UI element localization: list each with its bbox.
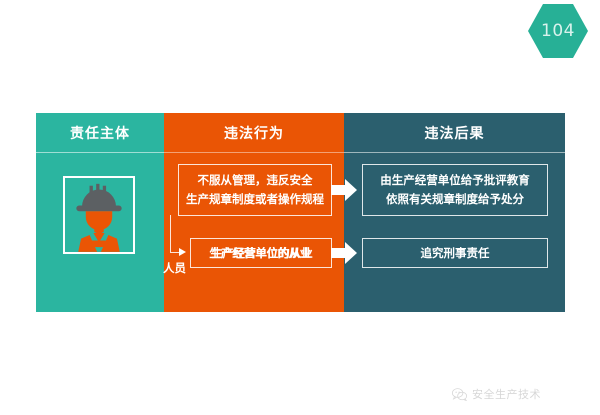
hexagon-shape: 104 xyxy=(528,4,588,58)
act-box-1: 不服从管理，违反安全 生产规章制度或者操作规程 xyxy=(178,164,332,216)
result-box-1-line-2: 依照有关规章制度给予处分 xyxy=(386,190,524,209)
watermark-label: 安全生产技术 xyxy=(472,386,541,402)
column-header-result: 违法后果 xyxy=(344,113,565,152)
act-box-1-line-1: 不服从管理，违反安全 xyxy=(198,171,313,190)
page-number-label: 104 xyxy=(541,21,575,41)
result-box-1-line-1: 由生产经营单位给予批评教育 xyxy=(380,171,530,190)
result-box-2-line-1: 追究刑事责任 xyxy=(421,244,490,263)
column-subject-body xyxy=(36,152,164,312)
column-act-body: 不服从管理，违反安全 生产规章制度或者操作规程 生产经营单位的从业 生产经营单位… xyxy=(164,152,344,312)
act-box-2: 生产经营单位的从业 生产经营单位的从业 人员 xyxy=(190,238,332,268)
page-number-badge: 104 xyxy=(528,4,588,58)
violation-flow-diagram: 责任主体 xyxy=(36,113,565,312)
column-act: 违法行为 不服从管理，违反安全 生产规章制度或者操作规程 生产经营单位的从业 生… xyxy=(164,113,344,312)
column-header-act: 违法行为 xyxy=(164,113,344,152)
flow-arrow-right-icon-1 xyxy=(331,177,357,203)
flow-arrow-right-icon-2 xyxy=(331,240,357,266)
wechat-icon xyxy=(452,388,467,401)
act-box-2-overlap-wrap: 生产经营单位的从业 生产经营单位的从业 xyxy=(191,239,331,267)
worker-icon-frame xyxy=(63,176,135,254)
result-box-1: 由生产经营单位给予批评教育 依照有关规章制度给予处分 xyxy=(362,164,548,216)
column-subject: 责任主体 xyxy=(36,113,164,312)
worker-hardhat-icon xyxy=(65,178,133,252)
column-result: 违法后果 由生产经营单位给予批评教育 依照有关规章制度给予处分 追究刑事责任 xyxy=(344,113,565,312)
watermark: 安全生产技术 xyxy=(452,386,541,402)
connector-arrowhead-icon xyxy=(179,248,186,256)
act-box-2-line-c: 人员 xyxy=(163,259,186,278)
column-header-subject: 责任主体 xyxy=(36,113,164,152)
column-result-body: 由生产经营单位给予批评教育 依照有关规章制度给予处分 追究刑事责任 xyxy=(344,152,565,312)
act-box-2-line-b: 生产经营单位的从业 xyxy=(191,244,331,263)
act-box-1-line-2: 生产规章制度或者操作规程 xyxy=(186,190,324,209)
result-box-2: 追究刑事责任 xyxy=(362,238,548,268)
